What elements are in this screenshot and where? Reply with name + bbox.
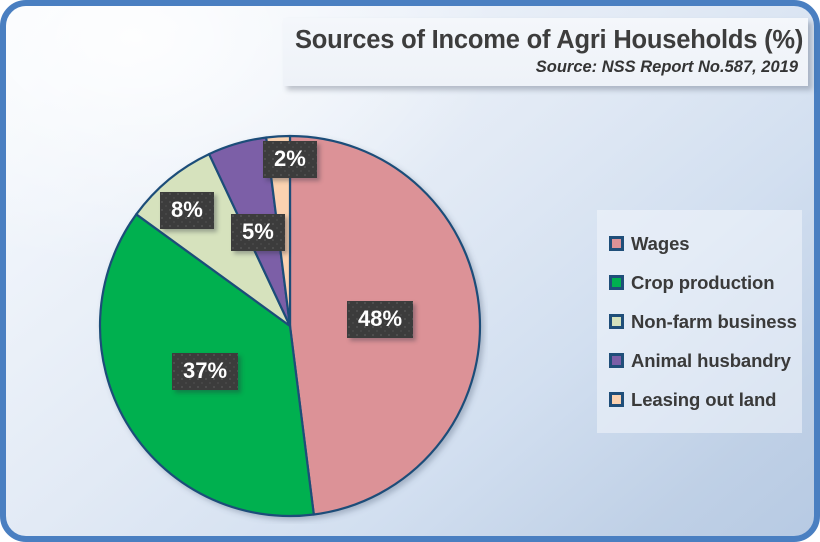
- page-title: Sources of Income of Agri Households (%): [295, 26, 798, 55]
- legend-item-label: Wages: [631, 233, 689, 255]
- legend-item-wages[interactable]: Wages: [609, 224, 794, 263]
- chart-screenshot: Sources of Income of Agri Households (%)…: [0, 0, 820, 542]
- chart-legend: Wages Crop production Non-farm business …: [597, 210, 802, 433]
- legend-item-crop-production[interactable]: Crop production: [609, 263, 794, 302]
- legend-item-non-farm-business[interactable]: Non-farm business: [609, 302, 794, 341]
- legend-item-label: Leasing out land: [631, 389, 776, 411]
- data-label-leasing-out-land: 2%: [263, 141, 317, 178]
- legend-item-label: Non-farm business: [631, 311, 797, 333]
- legend-item-label: Animal husbandry: [631, 350, 791, 372]
- data-label-crop-production: 37%: [172, 353, 238, 390]
- chart-source-note: Source: NSS Report No.587, 2019: [295, 58, 798, 77]
- data-label-non-farm-business: 8%: [160, 192, 214, 229]
- pie-chart-svg: [92, 128, 488, 524]
- legend-swatch-icon: [609, 275, 624, 290]
- legend-item-label: Crop production: [631, 272, 774, 294]
- legend-swatch-icon: [609, 392, 624, 407]
- legend-swatch-icon: [609, 236, 624, 251]
- pie-chart: [92, 128, 488, 524]
- legend-item-animal-husbandry[interactable]: Animal husbandry: [609, 341, 794, 380]
- legend-swatch-icon: [609, 314, 624, 329]
- chart-title-card: Sources of Income of Agri Households (%)…: [283, 18, 808, 86]
- legend-item-leasing-out-land[interactable]: Leasing out land: [609, 380, 794, 419]
- data-label-animal-husbandry: 5%: [231, 214, 285, 251]
- pie-slices: [100, 136, 480, 516]
- legend-swatch-icon: [609, 353, 624, 368]
- data-label-wages: 48%: [347, 301, 413, 338]
